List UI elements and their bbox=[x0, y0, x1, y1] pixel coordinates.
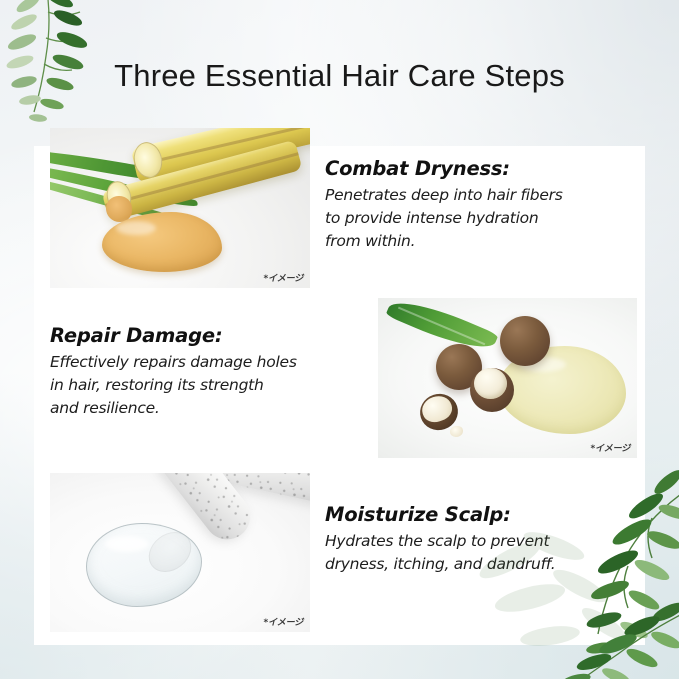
step-repair-damage-text: Repair Damage: Effectively repairs damag… bbox=[50, 324, 360, 419]
image-watermark: *イメージ bbox=[263, 271, 303, 284]
step-heading-combat-dryness: Combat Dryness: bbox=[325, 157, 635, 180]
sugarcane-syrup-photo: *イメージ bbox=[50, 128, 310, 288]
step-heading-repair-damage: Repair Damage: bbox=[50, 324, 360, 347]
step-body-moisturize-scalp: Hydrates the scalp to prevent dryness, i… bbox=[325, 530, 637, 576]
step-heading-moisturize-scalp: Moisturize Scalp: bbox=[325, 503, 637, 526]
infographic-canvas: Three Essential Hair Care Steps *イメージ Co… bbox=[0, 0, 679, 679]
step-moisturize-scalp-text: Moisturize Scalp: Hydrates the scalp to … bbox=[325, 503, 637, 576]
step-body-repair-damage: Effectively repairs damage holes in hair… bbox=[50, 351, 360, 419]
page-title: Three Essential Hair Care Steps bbox=[0, 58, 679, 94]
step-combat-dryness-text: Combat Dryness: Penetrates deep into hai… bbox=[325, 157, 635, 252]
step-body-combat-dryness: Penetrates deep into hair fibers to prov… bbox=[325, 184, 635, 252]
image-watermark: *イメージ bbox=[590, 441, 630, 454]
root-gel-photo: *イメージ bbox=[50, 473, 310, 632]
nut-kernel bbox=[474, 368, 507, 399]
image-watermark: *イメージ bbox=[263, 615, 303, 628]
macadamia-oil-photo: *イメージ bbox=[378, 298, 637, 458]
macadamia-nut-open bbox=[470, 368, 514, 412]
macadamia-nut bbox=[500, 316, 550, 366]
